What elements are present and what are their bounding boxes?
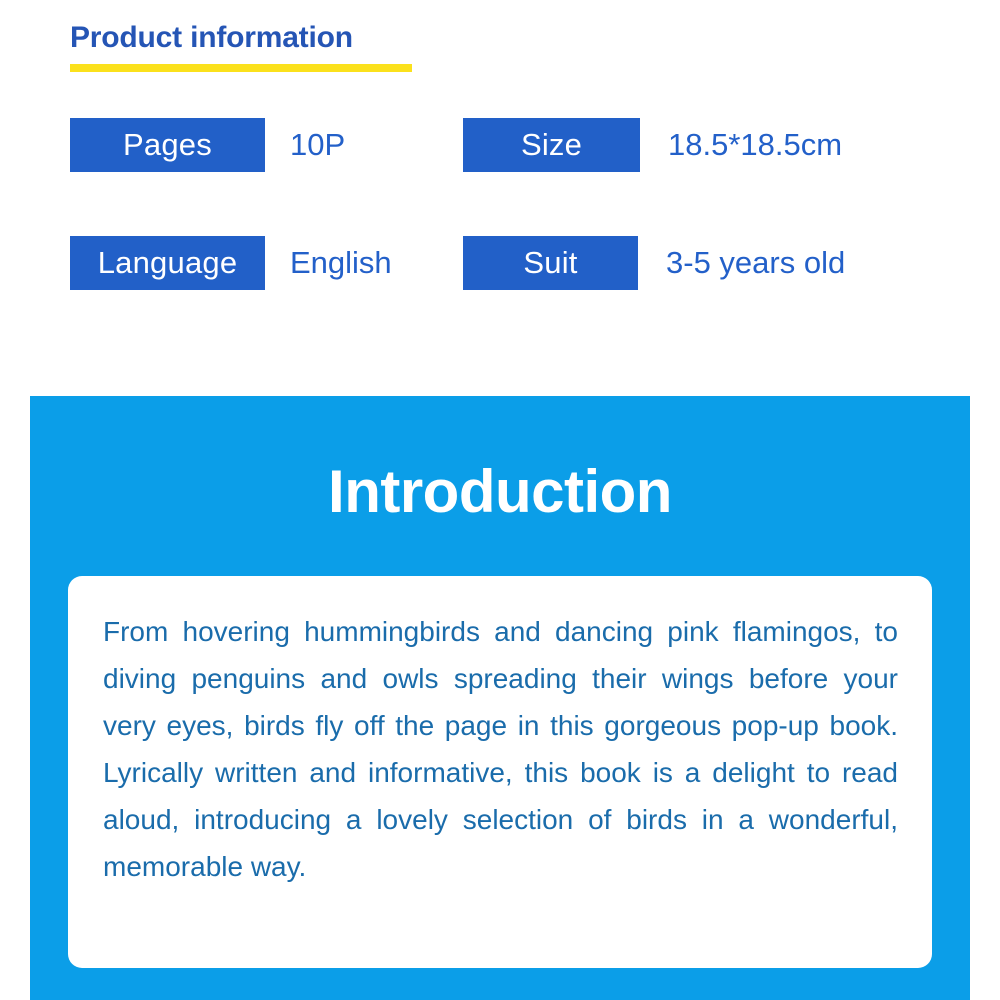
info-label-size: Size	[463, 118, 640, 172]
info-label-pages: Pages	[70, 118, 265, 172]
info-value-language: English	[290, 236, 392, 290]
introduction-panel: Introduction From hovering hummingbirds …	[30, 396, 970, 1000]
product-information-section: Product information Pages 10P Size 18.5*…	[0, 0, 1000, 396]
introduction-heading: Introduction	[30, 456, 970, 528]
info-row: Pages 10P Size 18.5*18.5cm	[0, 115, 1000, 175]
info-cell-pages: Pages 10P	[70, 115, 345, 175]
info-label-suit: Suit	[463, 236, 638, 290]
info-cell-language: Language English	[70, 233, 392, 293]
info-row: Language English Suit 3-5 years old	[0, 233, 1000, 293]
product-info-grid: Pages 10P Size 18.5*18.5cm Language Engl…	[0, 0, 1000, 396]
info-cell-suit: Suit 3-5 years old	[463, 233, 845, 293]
introduction-card: From hovering hummingbirds and dancing p…	[68, 576, 932, 968]
info-value-pages: 10P	[290, 118, 345, 172]
info-value-size: 18.5*18.5cm	[668, 118, 842, 172]
info-cell-size: Size 18.5*18.5cm	[463, 115, 842, 175]
introduction-body-text: From hovering hummingbirds and dancing p…	[103, 608, 898, 890]
info-value-suit: 3-5 years old	[666, 236, 845, 290]
info-label-language: Language	[70, 236, 265, 290]
